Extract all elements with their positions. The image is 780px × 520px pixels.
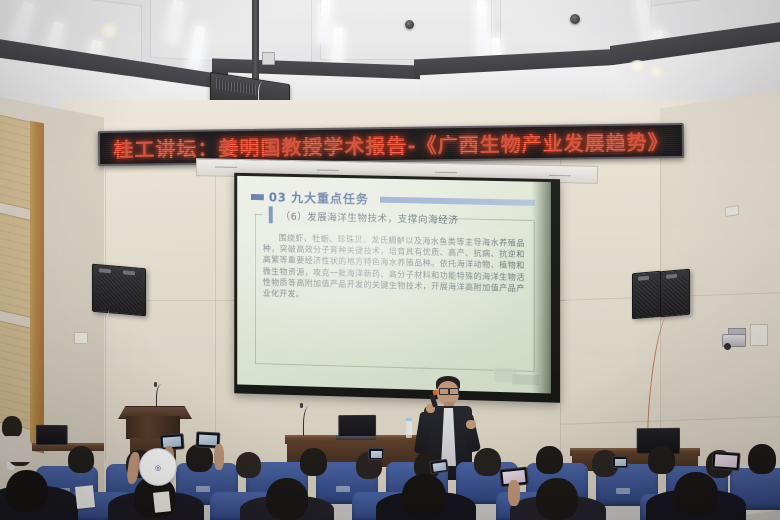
audience-head — [6, 470, 48, 512]
handheld-fan: ◎ — [139, 448, 177, 486]
speaker-grill-icon — [663, 276, 687, 313]
microphone-head-icon — [154, 382, 157, 387]
lecture-hall-photo: 桂工讲坛：姜明国教授学术报告-《广西生物产业发展趋势》 03 九大重点任务 （6… — [0, 0, 780, 520]
audience-head — [536, 478, 578, 520]
ceiling-speaker-icon — [405, 20, 414, 29]
wooden-wall-column — [30, 121, 44, 454]
fan-emblem-icon: ◎ — [140, 464, 176, 472]
podium-microphone — [156, 384, 165, 406]
microphone-head-icon — [300, 403, 303, 408]
phone-screen — [715, 454, 738, 468]
paper-sheet — [153, 491, 171, 513]
wall-outlet-plate — [725, 205, 739, 217]
acoustic-wall-panel — [0, 212, 32, 318]
audience-head — [474, 448, 501, 476]
wall-outlet-plate — [74, 332, 88, 344]
phone-screen — [371, 451, 382, 458]
audience-arm — [214, 444, 224, 470]
header-accent-bar — [380, 196, 535, 205]
glasses-icon — [449, 388, 459, 395]
bottle-cap — [406, 418, 412, 421]
header-dash-icon — [251, 194, 264, 200]
audience-head — [2, 416, 22, 438]
slide-body-text: 围绕虾、牡蛎、珍珠贝、龙氏鲷鲈以及海水鱼类等主导海水养殖品种，突破高效分子育种关… — [263, 232, 525, 305]
seat-number-tag — [196, 486, 210, 492]
audience-head — [186, 444, 213, 472]
presenter-hand-right — [466, 420, 476, 429]
phone-screen — [615, 459, 626, 466]
audience-head — [748, 444, 776, 474]
audience-head — [266, 478, 308, 520]
wall-speaker-left — [92, 264, 146, 317]
phone-screen — [432, 462, 446, 472]
audience-head — [674, 472, 718, 516]
projection-screen: 03 九大重点任务 （6）发展海洋生物技术，支撑向海经济 围绕虾、牡蛎、珍珠贝、… — [237, 176, 551, 394]
smartphone — [368, 448, 384, 460]
wall-speaker-right-a — [632, 271, 661, 320]
slide-section-number: 03 — [269, 190, 287, 204]
audience-head — [648, 446, 675, 474]
wall-seam — [105, 170, 106, 460]
speaker-cable — [106, 310, 115, 368]
slide-box-rule — [255, 214, 263, 215]
desk-microphone — [303, 406, 313, 436]
audience-head — [402, 474, 446, 518]
wall-speaker-right-b — [660, 269, 690, 318]
projector-mount-pole — [252, 0, 259, 82]
smartphone — [429, 459, 449, 474]
ceiling-speaker-icon — [570, 14, 580, 24]
projection-screen-frame: 03 九大重点任务 （6）发展海洋生物技术，支撑向海经济 围绕虾、牡蛎、珍珠贝、… — [234, 173, 560, 403]
smartphone — [711, 451, 740, 471]
seat-number-tag — [616, 488, 630, 494]
speaker-grill-icon — [97, 272, 141, 313]
audience-shoulders — [0, 436, 32, 462]
subtitle-marker-icon — [269, 206, 273, 223]
audience-head — [68, 446, 94, 473]
audience-arm — [508, 480, 520, 506]
smartphone — [612, 456, 628, 468]
slide-header: 03 九大重点任务 — [251, 188, 535, 211]
speaker-grill-icon — [635, 278, 658, 315]
audience-head — [536, 446, 563, 474]
phone-screen — [199, 435, 217, 446]
seat-number-tag — [336, 486, 350, 492]
downlight — [648, 66, 665, 77]
slide-section-title: 九大重点任务 — [291, 189, 369, 208]
water-bottle — [406, 421, 412, 438]
acoustic-wall-panel — [0, 114, 32, 210]
wall-junction-box — [750, 324, 768, 346]
downlight — [628, 60, 647, 72]
glasses-icon — [439, 388, 449, 395]
laptop-screen — [36, 425, 68, 445]
audience-head — [300, 448, 327, 476]
wall-seam — [215, 160, 216, 460]
paper-sheet — [75, 485, 95, 509]
projector-lens — [262, 52, 275, 65]
audience-head — [236, 452, 261, 478]
wall-seam — [560, 160, 561, 460]
downlight — [98, 22, 120, 38]
acoustic-wall-panel — [0, 320, 32, 430]
camera-lens-icon — [724, 343, 731, 350]
laptop-keyboard — [336, 436, 376, 440]
